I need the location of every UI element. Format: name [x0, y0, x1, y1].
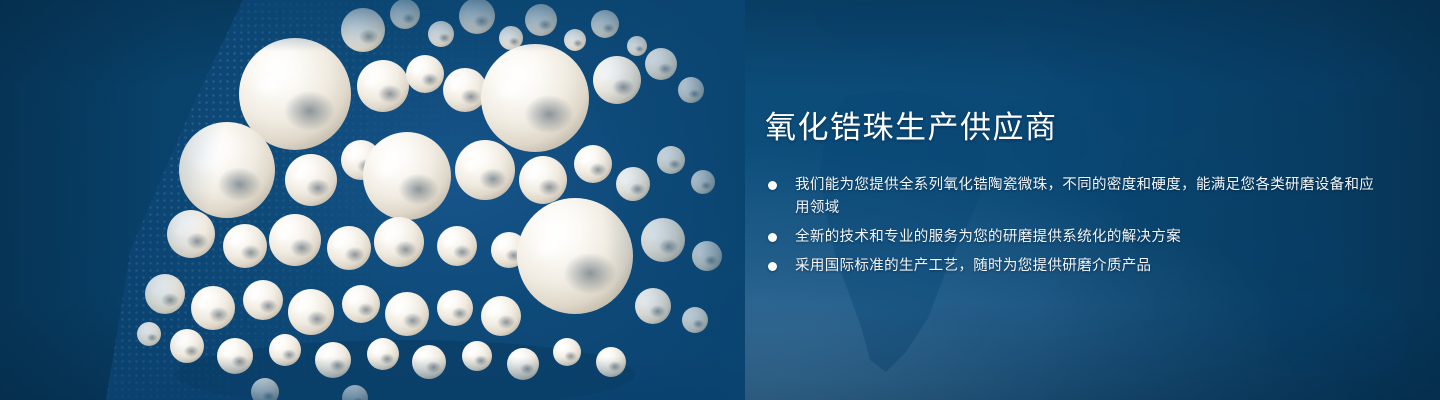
bullet-dot-icon	[768, 181, 777, 190]
list-item-label: 我们能为您提供全系列氧化锆陶瓷微珠，不同的密度和硬度，能满足您各类研磨设备和应用…	[795, 177, 1374, 216]
banner-headline: 氧化锆珠生产供应商	[765, 108, 1385, 148]
list-item: 采用国际标准的生产工艺，随时为您提供研磨介质产品	[765, 255, 1385, 278]
bullet-dot-icon	[768, 262, 777, 271]
banner-feature-list: 我们能为您提供全系列氧化锆陶瓷微珠，不同的密度和硬度，能满足您各类研磨设备和应用…	[765, 174, 1385, 278]
banner-text-block: 氧化锆珠生产供应商 我们能为您提供全系列氧化锆陶瓷微珠，不同的密度和硬度，能满足…	[765, 108, 1385, 278]
bullet-dot-icon	[768, 233, 777, 242]
list-item: 全新的技术和专业的服务为您的研磨提供系统化的解决方案	[765, 226, 1385, 249]
list-item-label: 全新的技术和专业的服务为您的研磨提供系统化的解决方案	[795, 229, 1181, 245]
list-item: 我们能为您提供全系列氧化锆陶瓷微珠，不同的密度和硬度，能满足您各类研磨设备和应用…	[765, 174, 1385, 220]
hero-banner: 氧化锆珠生产供应商 我们能为您提供全系列氧化锆陶瓷微珠，不同的密度和硬度，能满足…	[0, 0, 1440, 400]
list-item-label: 采用国际标准的生产工艺，随时为您提供研磨介质产品	[795, 258, 1151, 274]
